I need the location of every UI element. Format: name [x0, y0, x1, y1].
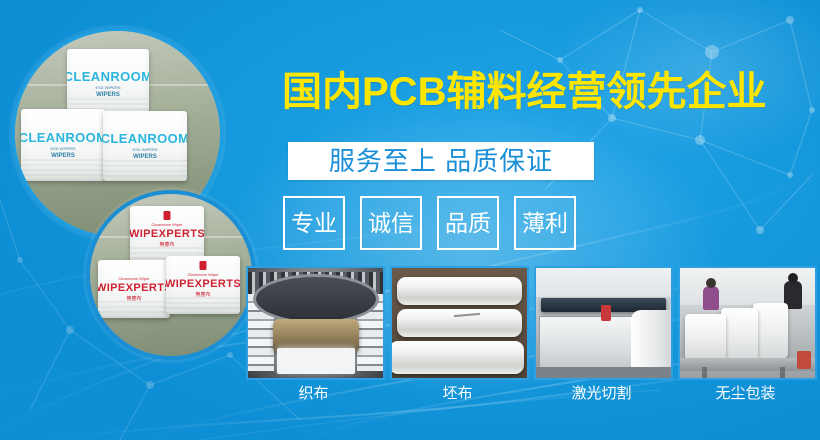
pack-brand-label: CLEANROOM — [103, 132, 187, 145]
pack-sub-label: ESD WIPERS — [95, 86, 120, 90]
photo-laser-cutting-frame — [534, 266, 673, 380]
photo-laser-cutting[interactable]: 激光切割 — [534, 266, 669, 401]
tag-low-margin[interactable]: 薄利 — [514, 196, 576, 250]
laser-cutter-image — [536, 268, 671, 378]
promo-banner: CLEANROOM ESD WIPERS WIPERS CLEANROOM ES… — [0, 0, 820, 440]
banner-subtitle-text: 服务至上 品质保证 — [329, 148, 553, 174]
packaging-workers-image — [680, 268, 815, 378]
pack-sub-label: ESD WIPERS — [50, 147, 75, 151]
pack-brand-label: WIPEXPERTS — [98, 283, 170, 294]
photo-caption: 坯布 — [390, 386, 525, 401]
value-tag-list: 专业 诚信 品质 薄利 — [283, 196, 576, 250]
cleanroom-pack-left: CLEANROOM ESD WIPERS WIPERS — [21, 109, 105, 181]
wipexperts-pack-left: Cleanroom Wiper WIPEXPERTS 無塵布 — [98, 260, 170, 318]
photo-cleanroom-packaging-frame — [678, 266, 817, 380]
pack-sub-label: Cleanroom Wiper — [187, 273, 218, 277]
fabric-rolls-image — [392, 268, 527, 378]
pack-brand-label: WIPEXPERTS — [130, 229, 204, 240]
photo-caption: 织布 — [246, 386, 381, 401]
banner-headline: 国内PCB辅料经营领先企业 — [282, 72, 802, 112]
knitting-machine-image — [248, 268, 383, 378]
photo-weaving-frame — [246, 266, 385, 380]
pack-brand-label: WIPEXPERTS — [166, 279, 240, 290]
pack-brand-label: CLEANROOM — [67, 70, 149, 83]
photo-greige-fabric-frame — [390, 266, 529, 380]
process-photo-strip: 织布 坯布 — [246, 266, 813, 401]
pack-sub-label: ESD WIPERS — [132, 148, 157, 152]
tag-label: 品质 — [445, 212, 491, 235]
product-circle-wipexperts: Cleanroom Wiper WIPEXPERTS 無塵布 Cleanroom… — [86, 190, 256, 360]
pack-sub2-label: WIPERS — [51, 153, 75, 159]
pack-brand-label: CLEANROOM — [21, 131, 105, 144]
tag-professional[interactable]: 专业 — [283, 196, 345, 250]
tag-label: 诚信 — [368, 212, 414, 235]
photo-cleanroom-packaging[interactable]: 无尘包装 — [678, 266, 813, 401]
photo-weaving[interactable]: 织布 — [246, 266, 381, 401]
tag-label: 薄利 — [522, 212, 568, 235]
photo-caption: 激光切割 — [534, 386, 669, 401]
banner-subtitle-bar: 服务至上 品质保证 — [288, 142, 594, 180]
photo-greige-fabric[interactable]: 坯布 — [390, 266, 525, 401]
tag-quality[interactable]: 品质 — [437, 196, 499, 250]
wipexperts-pack-right: Cleanroom Wiper WIPEXPERTS 無塵布 — [166, 256, 240, 314]
photo-caption: 无尘包装 — [678, 386, 813, 401]
pack-sub-label: Cleanroom Wiper — [118, 277, 149, 281]
tag-integrity[interactable]: 诚信 — [360, 196, 422, 250]
cleanroom-pack-right: CLEANROOM ESD WIPERS WIPERS — [103, 111, 187, 181]
pack-sub-label: Cleanroom Wiper — [151, 223, 182, 227]
tag-label: 专业 — [291, 212, 337, 235]
